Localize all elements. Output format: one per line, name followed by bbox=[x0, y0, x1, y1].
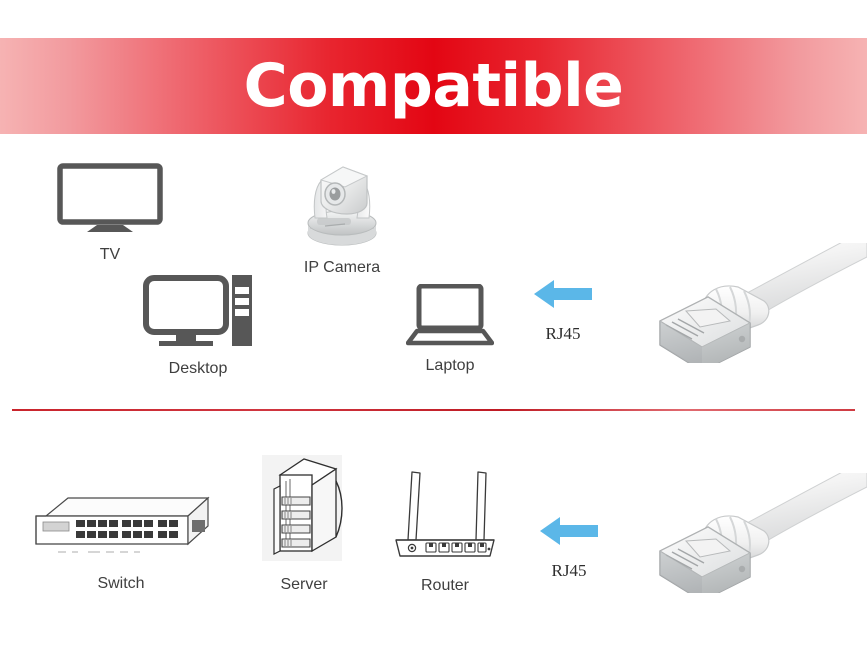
connector-rj45-bottom: RJ45 bbox=[538, 512, 600, 581]
connector-rj45-top: RJ45 bbox=[532, 275, 594, 344]
desktop-computer-icon bbox=[143, 275, 253, 354]
connector-label: RJ45 bbox=[546, 324, 581, 344]
device-tv: TV bbox=[57, 163, 163, 264]
device-server: Server bbox=[258, 453, 350, 594]
laptop-icon bbox=[406, 284, 494, 351]
rj45-patch-cable-bottom bbox=[646, 473, 867, 598]
server-rack-icon bbox=[258, 453, 350, 570]
device-label: Switch bbox=[97, 575, 144, 593]
page-title: Compatible bbox=[244, 56, 624, 116]
device-router: Router bbox=[390, 458, 500, 595]
device-label: TV bbox=[100, 246, 120, 264]
left-arrow-icon bbox=[532, 275, 594, 318]
left-arrow-icon bbox=[538, 512, 600, 555]
ip-camera-icon bbox=[297, 160, 387, 253]
wifi-router-icon bbox=[390, 458, 500, 571]
section-divider bbox=[12, 409, 855, 411]
connector-label: RJ45 bbox=[552, 561, 587, 581]
tv-icon bbox=[57, 163, 163, 240]
network-switch-icon bbox=[28, 486, 214, 569]
banner: Compatible bbox=[0, 38, 867, 134]
device-desktop: Desktop bbox=[143, 275, 253, 378]
device-ip-camera: IP Camera bbox=[297, 160, 387, 277]
device-switch: Switch bbox=[28, 486, 214, 593]
device-laptop: Laptop bbox=[406, 284, 494, 375]
device-label: Desktop bbox=[169, 360, 228, 378]
device-label: IP Camera bbox=[304, 259, 380, 277]
device-label: Laptop bbox=[426, 357, 475, 375]
device-label: Router bbox=[421, 577, 469, 595]
rj45-patch-cable-top bbox=[646, 243, 867, 368]
device-label: Server bbox=[280, 576, 327, 594]
